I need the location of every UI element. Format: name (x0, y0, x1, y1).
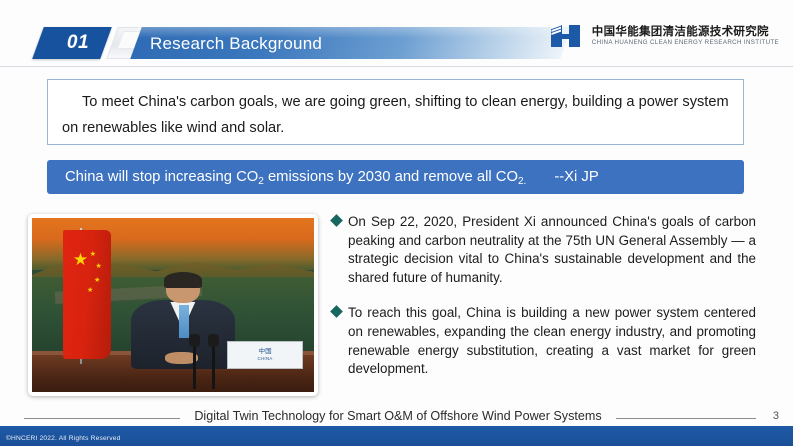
huaneng-h-logo-icon (548, 22, 584, 50)
footer-title: Digital Twin Technology for Smart O&M of… (180, 409, 616, 423)
statement-text: To meet China's carbon goals, we are goi… (62, 89, 734, 141)
photo-country-nameplate: 中国 CHINA (227, 341, 302, 369)
nameplate-label-en: CHINA (257, 356, 272, 362)
list-item-text: On Sep 22, 2020, President Xi announced … (348, 214, 756, 285)
footer-rule-left (24, 418, 180, 419)
quote-part-1: China will stop increasing CO (65, 169, 258, 185)
presentation-slide: 01 Research Background 中国华能集团清洁能源技术研究院 C… (0, 0, 793, 446)
brand-name-en: CHINA HUANENG CLEAN ENERGY RESEARCH INST… (592, 39, 779, 47)
list-item: To reach this goal, China is building a … (332, 304, 756, 378)
header-divider (0, 66, 793, 67)
footer-rule-right (616, 418, 756, 419)
diamond-bullet-icon (330, 306, 343, 319)
page-title: Research Background (150, 29, 322, 59)
page-number: 3 (773, 410, 779, 422)
quote-part-2: emissions by 2030 and remove all CO (264, 169, 518, 185)
quote-subscript-1: 2 (258, 176, 264, 187)
photo-frame: 中国 CHINA (28, 214, 318, 396)
quote-banner-text: China will stop increasing CO2 emissions… (65, 160, 599, 194)
list-item: On Sep 22, 2020, President Xi announced … (332, 213, 756, 287)
quote-subscript-2: 2. (518, 176, 526, 187)
diamond-bullet-icon (330, 214, 343, 227)
brand-name-cn: 中国华能集团清洁能源技术研究院 (592, 25, 779, 39)
photo-person-hair (164, 272, 202, 288)
quote-attribution: --Xi JP (554, 160, 598, 194)
slide-header: 01 Research Background 中国华能集团清洁能源技术研究院 C… (0, 0, 793, 72)
photo-microphone-right (212, 340, 215, 389)
statement-box: To meet China's carbon goals, we are goi… (47, 79, 744, 145)
photo-microphone-left (193, 340, 196, 389)
bullet-list: On Sep 22, 2020, President Xi announced … (332, 213, 756, 379)
brand-logo: 中国华能集团清洁能源技术研究院 CHINA HUANENG CLEAN ENER… (548, 22, 779, 50)
bottom-bar: ©HNCERI 2022. All Rights Reserved (0, 426, 793, 446)
list-item-text: To reach this goal, China is building a … (348, 305, 756, 376)
section-number-label: 01 (44, 27, 112, 59)
brand-text: 中国华能集团清洁能源技术研究院 CHINA HUANENG CLEAN ENER… (592, 25, 779, 47)
photo-image: 中国 CHINA (32, 218, 314, 392)
photo-person-tie (179, 305, 189, 338)
copyright-text: ©HNCERI 2022. All Rights Reserved (6, 435, 120, 442)
